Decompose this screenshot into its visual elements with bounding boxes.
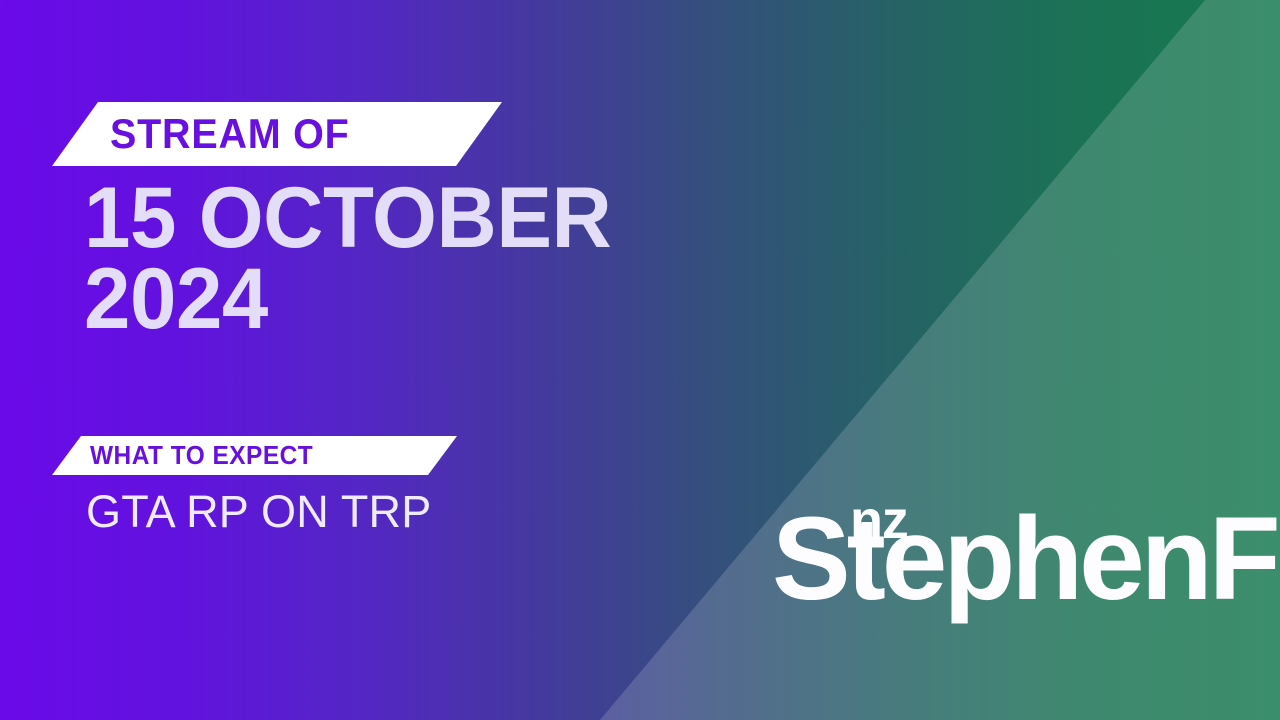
headline-date: 15 OCTOBER 2024 xyxy=(84,178,628,340)
banner-stream-of: STREAM OF xyxy=(52,102,502,166)
stephenfnz-logo: StephenF nz xyxy=(772,500,1232,630)
text-content-column: STREAM OF 15 OCTOBER 2024 WHAT TO EXPECT… xyxy=(0,0,780,720)
announcement-card: STREAM OF 15 OCTOBER 2024 WHAT TO EXPECT… xyxy=(0,0,1280,720)
headline-date-line-1: 15 OCTOBER xyxy=(84,178,611,259)
logo-wordmark: StephenF xyxy=(772,500,1277,618)
banner-what-to-expect: WHAT TO EXPECT xyxy=(52,436,457,475)
subtitle-text: GTA RP ON TRP xyxy=(86,486,432,538)
headline-date-line-2: 2024 xyxy=(84,259,611,340)
logo-nz-superscript: nz xyxy=(850,493,908,547)
banner-stream-of-label: STREAM OF xyxy=(110,110,350,158)
banner-what-to-expect-label: WHAT TO EXPECT xyxy=(90,440,313,471)
